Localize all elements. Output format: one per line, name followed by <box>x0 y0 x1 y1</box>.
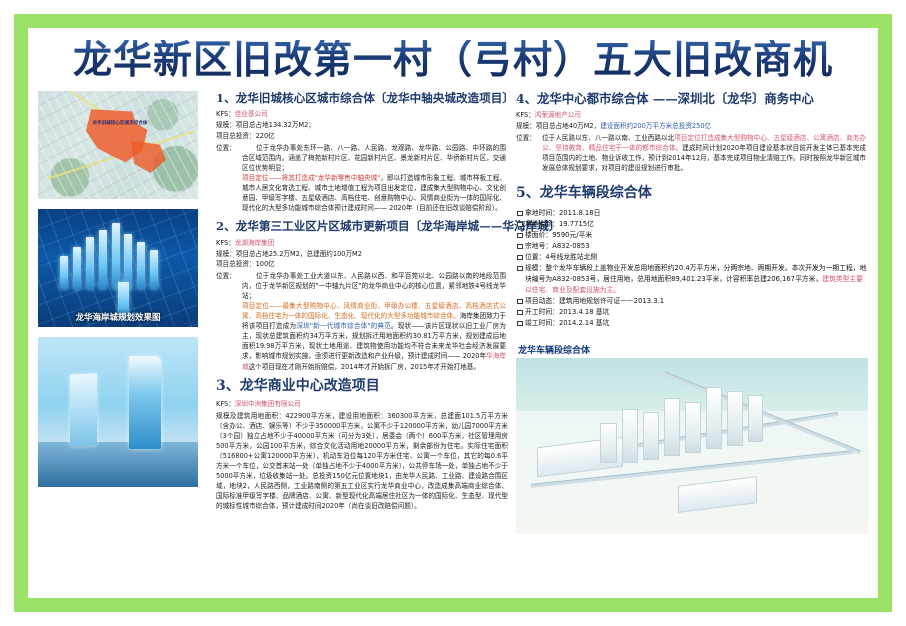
list-item: 拿地金额：19.7715亿 <box>516 219 868 230</box>
section-4-heading: 4、龙华中心都市综合体 ——深圳北〔龙华〕商务中心 <box>516 91 868 107</box>
section-3-kfs: KFS：深圳中洲集团有限公司 <box>216 400 508 410</box>
bullet-sub-marker: 基坑 <box>596 319 610 327</box>
building-block <box>706 387 722 449</box>
list-item: 位置：4号线龙胜站北侧 <box>516 252 868 263</box>
building-block <box>664 398 680 456</box>
section-3-heading: 3、龙华商业中心改造项目 <box>216 378 508 396</box>
bullet-value: 4号线龙胜站北侧 <box>545 253 597 261</box>
section-3: 3、龙华商业中心改造项目 KFS：深圳中洲集团有限公司 规模及建筑用地面积：42… <box>216 378 508 512</box>
position-text: 位于龙华办事处东环一路、八一路、人民路、龙观路、龙华路、公园路、中环路的围合区域… <box>242 143 506 173</box>
section-5-bullet-list: 拿地时间：2011.8.18日 拿地金额：19.7715亿 楼面价：9590元/… <box>516 208 868 329</box>
building-block <box>685 402 701 453</box>
section-4-kfs: KFS：鸿荣源地产公司 <box>516 111 868 121</box>
bullet-value: 建筑用地规划许可证——2013.3.1 <box>559 297 664 305</box>
page-title: 龙华新区旧改第一村（弓村）五大旧改商机 <box>73 40 833 81</box>
twin-towers-image <box>38 337 198 487</box>
map-highlight-zone-secondary <box>131 141 166 173</box>
figure-aerial-map: 龙华旧城核心区城市综合体 <box>38 91 208 199</box>
tower-shape <box>112 223 121 289</box>
scale-label: 规模： <box>216 250 236 258</box>
content-columns: 龙华旧城核心区城市综合体 <box>38 91 868 603</box>
position-label: 位置： <box>516 133 542 143</box>
position-text: 位于龙华办事处工业大道以东、人民路以西、和平百苑以北、公园路以南的地段范围内，位… <box>242 271 506 301</box>
scale-value: 项目总占地25.2万M2，总建面约100万M2 <box>236 250 362 258</box>
section-1-kfs: KFS：佳业基公司 <box>216 110 508 120</box>
bullet-value: 9590元/平米 <box>552 231 592 239</box>
poster-inner: 龙华新区旧改第一村（弓村）五大旧改商机 龙华旧城核心区城市综合体 <box>28 28 878 598</box>
bullet-label: 拿地时间： <box>525 209 559 217</box>
figure-caption: 龙华车辆段综合体 <box>518 343 868 356</box>
section-5: 5、龙华车辆段综合体 拿地时间：2011.8.18日 拿地金额：19.7715亿… <box>516 185 868 329</box>
list-item: 竣工时间：2014.2.14 基坑 <box>516 318 868 329</box>
scale-value: 项目总占地40万M2， <box>536 122 600 130</box>
kfs-value: 深圳中洲集团有限公司 <box>235 400 301 408</box>
section-2-scale: 规模：项目总占地25.2万M2，总建面约100万M2 <box>216 250 508 260</box>
bullet-label: 开工时间： <box>525 308 559 316</box>
bullet-value: 19.7715亿 <box>559 220 594 228</box>
bullet-value: 整个龙华车辆段上盖物业开发总用地面积约20.4万平方米，分两宗地、两期开发。本次… <box>525 264 866 283</box>
middle-text-column: 1、龙华旧城核心区城市综合体〔龙华中轴央城改造项目〕 KFS：佳业基公司 规模：… <box>216 91 508 603</box>
section-2-position: 位置：位于龙华办事处工业大道以东、人民路以西、和平百苑以北、公园路以南的地段范围… <box>216 271 508 371</box>
position-body: 位于龙华办事处工业大道以东、人民路以西、和平百苑以北、公园路以南的地段范围内，位… <box>242 271 506 371</box>
bullet-label: 竣工时间： <box>525 319 559 327</box>
image-column: 龙华旧城核心区城市综合体 <box>38 91 208 603</box>
building-block <box>643 412 659 460</box>
position-label: 位置： <box>216 271 242 281</box>
scale-label: 规模： <box>216 121 236 129</box>
kfs-value: 佳业基公司 <box>235 110 268 118</box>
building-block <box>622 409 638 464</box>
section-2-investment: 项目总投资：100亿 <box>216 260 508 270</box>
figure-depot-complex: 龙华车辆段综合体 <box>516 343 868 534</box>
tower-shape-left <box>70 374 97 447</box>
figure-coastal-city: 龙华海岸城规划效果图 <box>38 209 208 327</box>
scale-extra: 建设面积约200万平方米总投资250亿 <box>600 122 711 130</box>
bullet-value: A832-0853 <box>552 242 589 250</box>
position-highlight: 项目定位——将其打造成"龙华新零售中轴央城" <box>242 174 380 182</box>
section-3-body: 规模及建筑用地面积：422900平方米，建设用地面积：360300平方米，总建面… <box>216 411 508 511</box>
tower-shape <box>137 242 145 289</box>
depot-complex-image <box>516 358 868 534</box>
section-4-scale: 规模：项目总占地40万M2，建设面积约200万平方米总投资250亿 <box>516 122 868 132</box>
tower-shape <box>60 256 68 289</box>
investment-label: 项目总投资： <box>216 132 256 140</box>
kfs-label: KFS： <box>216 400 235 408</box>
render-ground <box>38 442 198 487</box>
bullet-label: 宗地号： <box>525 242 552 250</box>
list-item: 开工时间：2013.4.18 基坑 <box>516 307 868 318</box>
bullet-sub-marker: 基坑 <box>596 308 610 316</box>
kfs-label: KFS： <box>216 239 235 247</box>
bullet-value: 2013.4.18 <box>559 308 594 316</box>
tower-shape-right <box>129 356 161 449</box>
kfs-label: KFS： <box>216 110 235 118</box>
bullet-label: 规模： <box>525 264 545 272</box>
tower-shape <box>124 234 132 289</box>
investment-value: 100亿 <box>256 260 275 268</box>
building-block <box>727 391 743 446</box>
map-zone-label: 龙华旧城核心区城市综合体 <box>92 121 147 127</box>
investment-label: 项目总投资： <box>216 260 256 268</box>
position-text-4: 这个项目现在才刚开始拆赔偿，2014年才开始拆厂房，2015年才开始打地基。 <box>249 363 480 371</box>
list-item: 楼面价：9590元/平米 <box>516 230 868 241</box>
list-item: 项目动态：建筑用地规划许可证——2013.3.1 <box>516 296 868 307</box>
bullet-label: 楼面价： <box>525 231 552 239</box>
scale-label: 规模： <box>516 122 536 130</box>
aerial-map-image: 龙华旧城核心区城市综合体 <box>38 91 198 199</box>
list-item: 宗地号：A832-0853 <box>516 241 868 252</box>
depot-shed <box>678 476 757 512</box>
section-1-heading: 1、龙华旧城核心区城市综合体〔龙华中轴央城改造项目〕 <box>216 91 508 105</box>
kfs-value: 龙湖海岸集团 <box>235 239 275 247</box>
section-5-heading: 5、龙华车辆段综合体 <box>516 185 868 203</box>
bullet-label: 位置： <box>525 253 545 261</box>
section-4-position: 位置：位于人民路以东、八一路以南、工业西路以北项目定位打造成集大型购物中心、五星… <box>516 133 868 173</box>
section-1-position: 位置：位于龙华办事处东环一路、八一路、人民路、龙观路、龙华路、公园路、中环路的围… <box>216 143 508 213</box>
bullet-value: 2011.8.18日 <box>559 209 600 217</box>
poster-root: 龙华新区旧改第一村（弓村）五大旧改商机 龙华旧城核心区城市综合体 <box>0 0 906 626</box>
tower-shape <box>86 237 94 289</box>
kfs-label: KFS： <box>516 111 535 119</box>
tower-shape <box>73 247 81 289</box>
tower-shape <box>150 250 158 289</box>
bullet-value: 2014.2.14 <box>559 319 594 327</box>
tower-shape <box>99 230 107 289</box>
building-block <box>748 395 762 443</box>
position-label: 位置： <box>216 143 242 153</box>
position-highlight-2: 深圳"新一代城市综合体"的典范 <box>296 322 391 330</box>
section-1-investment: 项目总投资：220亿 <box>216 132 508 142</box>
section-2-kfs: KFS：龙湖海岸集团 <box>216 239 508 249</box>
green-frame-border: 龙华新区旧改第一村（弓村）五大旧改商机 龙华旧城核心区城市综合体 <box>14 14 892 612</box>
bullet-label: 项目动态： <box>525 297 559 305</box>
figure-caption: 龙华海岸城规划效果图 <box>38 311 198 323</box>
position-body: 位于人民路以东、八一路以南、工业西路以北项目定位打造成集大型购物中心、五星级酒店… <box>542 133 866 173</box>
bullet-label: 拿地金额： <box>525 220 559 228</box>
coastal-city-image: 龙华海岸城规划效果图 <box>38 209 198 327</box>
investment-value: 220亿 <box>256 132 275 140</box>
list-item: 规模：整个龙华车辆段上盖物业开发总用地面积约20.4万平方米，分两宗地、两期开发… <box>516 263 868 296</box>
section-1-scale: 规模：项目总占地134.32万M2； <box>216 121 508 131</box>
kfs-value: 鸿荣源地产公司 <box>535 111 581 119</box>
scale-value: 项目总占地134.32万M2； <box>236 121 315 129</box>
section-2: 2、龙华第三工业区片区城市更新项目〔龙华海岸城——华海岸城〕 KFS：龙湖海岸集… <box>216 219 508 371</box>
section-1: 1、龙华旧城核心区城市综合体〔龙华中轴央城改造项目〕 KFS：佳业基公司 规模：… <box>216 91 508 213</box>
list-item: 拿地时间：2011.8.18日 <box>516 208 868 219</box>
position-body: 位于龙华办事处东环一路、八一路、人民路、龙观路、龙华路、公园路、中环路的围合区域… <box>242 143 506 213</box>
position-text: 位于人民路以东、八一路以南、工业西路以北 <box>542 134 674 142</box>
section-4: 4、龙华中心都市综合体 ——深圳北〔龙华〕商务中心 KFS：鸿荣源地产公司 规模… <box>516 91 868 173</box>
section-2-heading: 2、龙华第三工业区片区城市更新项目〔龙华海岸城——华海岸城〕 <box>216 219 508 233</box>
building-block <box>600 423 616 464</box>
figure-twin-towers <box>38 337 208 487</box>
title-block: 龙华新区旧改第一村（弓村）五大旧改商机 <box>38 34 868 85</box>
right-column: 4、龙华中心都市综合体 ——深圳北〔龙华〕商务中心 KFS：鸿荣源地产公司 规模… <box>516 91 868 603</box>
